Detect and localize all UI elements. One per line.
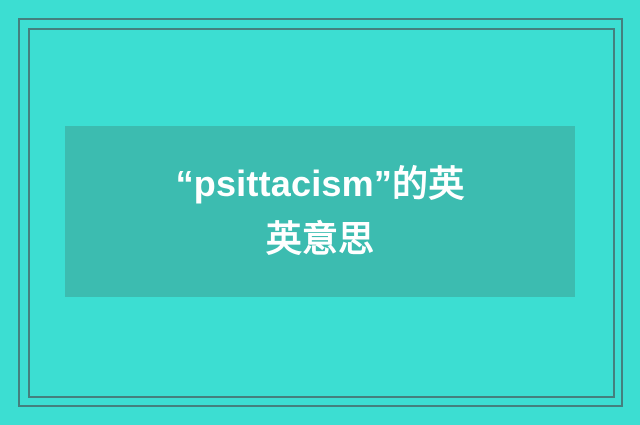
caption-title: “psittacism”的英英意思 (170, 157, 470, 266)
image-card: “psittacism”的英英意思 (0, 0, 640, 425)
caption-band: “psittacism”的英英意思 (65, 126, 575, 297)
